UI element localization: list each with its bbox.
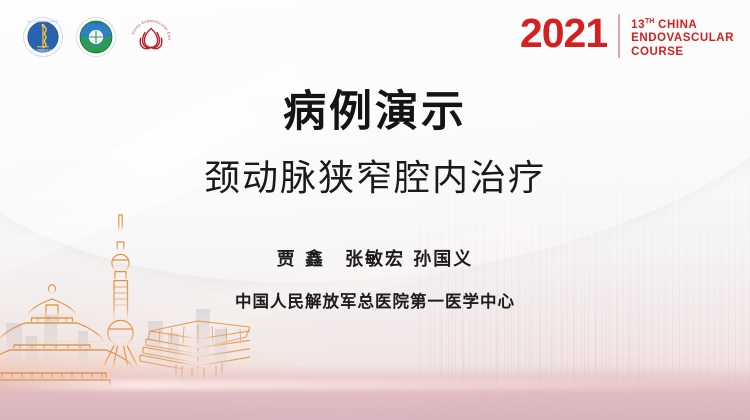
oriental-pearl-tower-outline: [99, 185, 141, 370]
author-primary: 贾 鑫: [277, 249, 325, 270]
presentation-title-slide: 中国人民解放军总医院 PLA GENERAL HOSPITAL 中华医学会 CH…: [0, 0, 750, 420]
author-secondary: 张敏宏 孙国义: [345, 249, 473, 270]
city-skyline-illustration: [0, 173, 250, 398]
slide-title: 病例演示: [0, 88, 750, 136]
